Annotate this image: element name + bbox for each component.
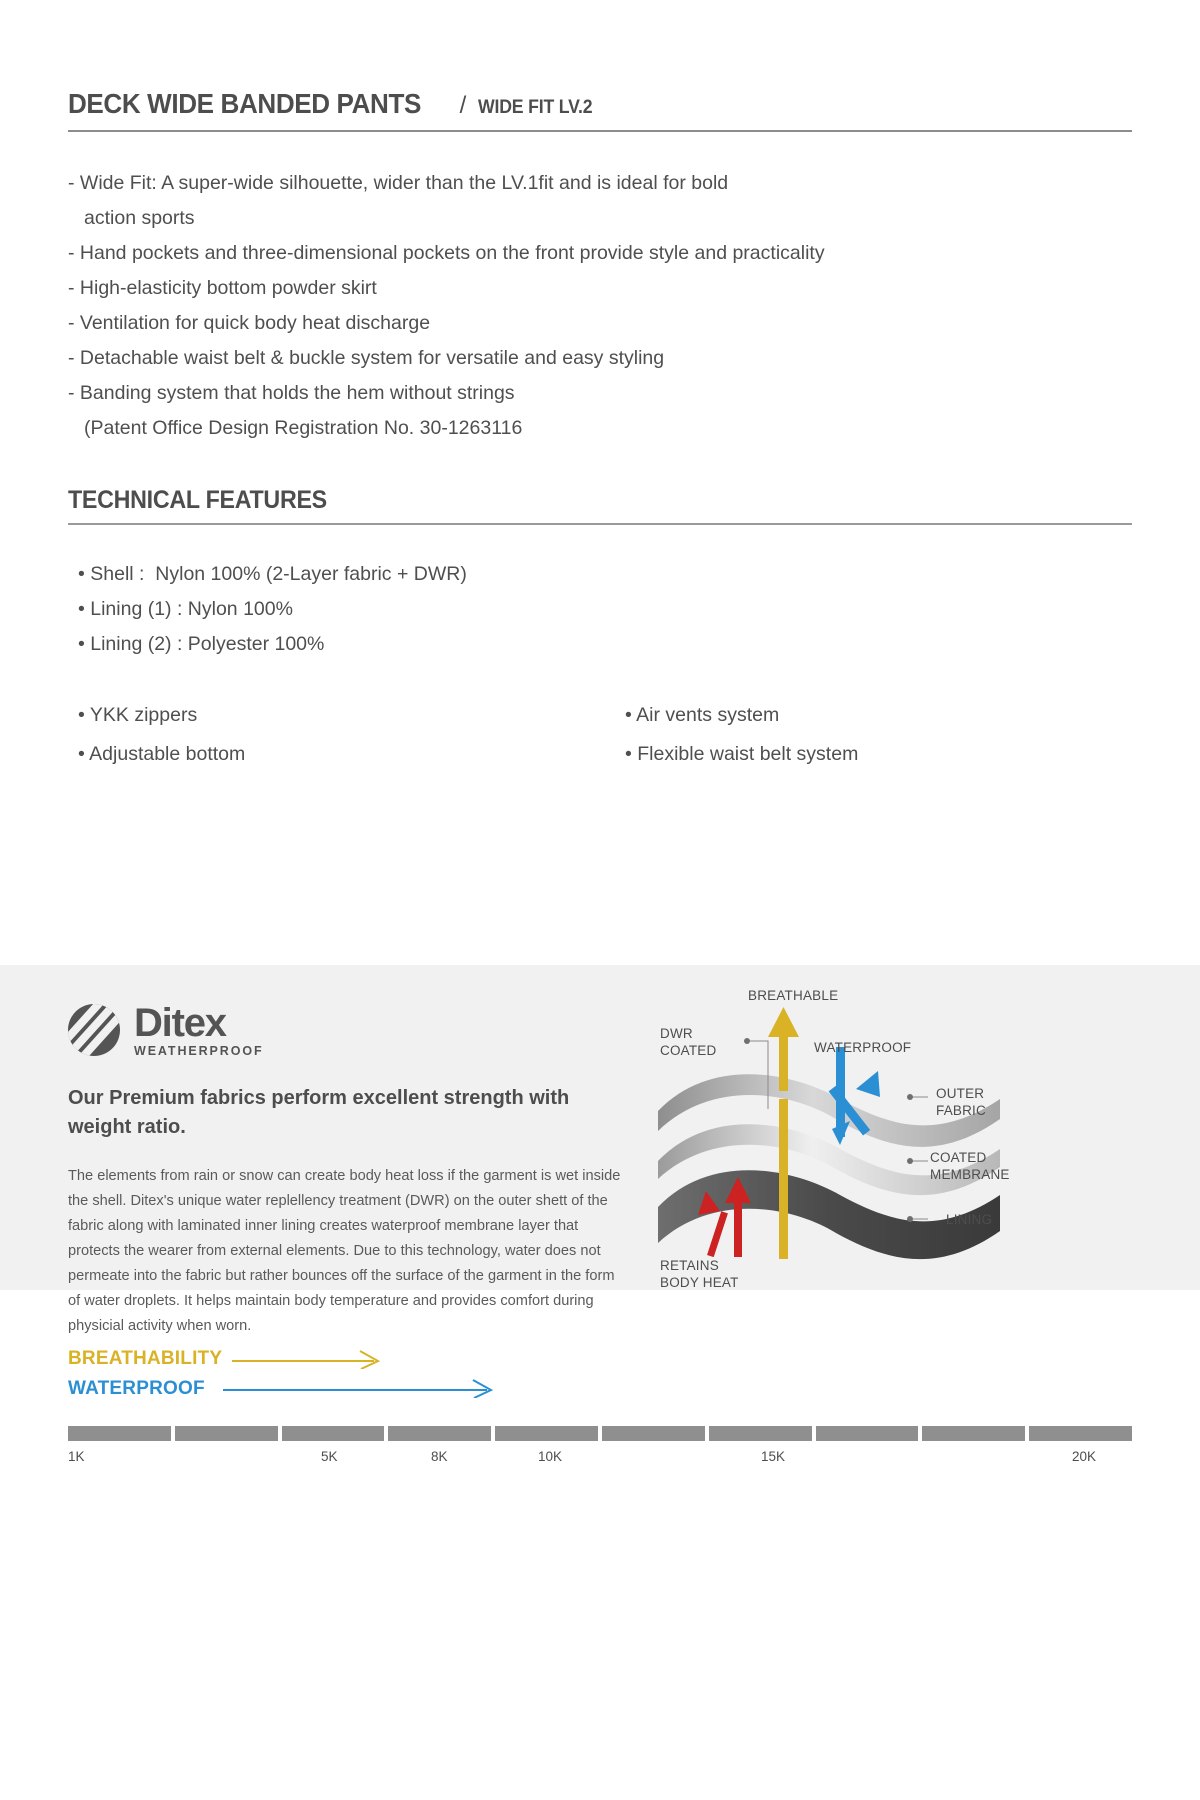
performance-scale-section: BREATHABILITY WATERPROOF 1K 5K 8K 10K 15… (0, 1290, 1200, 1471)
material-spec-list: • Shell : Nylon 100% (2-Layer fabric + D… (68, 557, 1132, 662)
product-title: DECK WIDE BANDED PANTS (68, 88, 421, 120)
patent-registration: (Patent Office Design Registration No. 3… (68, 411, 1132, 446)
scale-bar-segment (282, 1426, 385, 1441)
diagram-label-lining: LINING (946, 1211, 992, 1228)
spec-item: • Lining (2) : Polyester 100% (78, 627, 1132, 662)
extra-feature-item: • YKK zippers (78, 696, 585, 735)
diagram-label-dwr-coated: DWR COATED (660, 1025, 716, 1059)
diagram-label-waterproof: WATERPROOF (814, 1039, 911, 1056)
breathability-row: BREATHABILITY (68, 1348, 1132, 1370)
diagram-label-breathable: BREATHABLE (748, 987, 838, 1004)
waterproof-arrow-icon (219, 1378, 509, 1398)
scale-bar-segment (175, 1426, 278, 1441)
diagram-label-retains-body-heat: RETAINS BODY HEAT (660, 1257, 739, 1291)
extra-feature-columns: • YKK zippers • Air vents system • Adjus… (68, 696, 1132, 774)
page-title: DECK WIDE BANDED PANTS / WIDE FIT LV.2 (68, 0, 1132, 120)
scale-tick: 15K (761, 1449, 785, 1464)
feature-item: action sports (68, 201, 1132, 236)
technical-divider (68, 523, 1132, 525)
feature-item: - Wide Fit: A super-wide silhouette, wid… (68, 166, 1132, 201)
extra-feature-item: • Adjustable bottom (78, 735, 585, 774)
scale-bar-segment (68, 1426, 171, 1441)
scale-bar-segment (816, 1426, 919, 1441)
waterproof-row: WATERPROOF (68, 1376, 1132, 1400)
feature-item: - Hand pockets and three-dimensional poc… (68, 236, 1132, 271)
feature-item: - Banding system that holds the hem with… (68, 376, 1132, 411)
feature-item: - Detachable waist belt & buckle system … (68, 341, 1132, 376)
ditex-logo-wordmark: Ditex (134, 1003, 264, 1043)
technical-features-heading: TECHNICAL FEATURES (68, 486, 1058, 515)
breathability-arrow-icon (228, 1349, 388, 1369)
product-subtitle: WIDE FIT LV.2 (478, 97, 592, 119)
scale-tick-row: 1K 5K 8K 10K 15K 20K (68, 1449, 1132, 1471)
extra-feature-item: • Flexible waist belt system (625, 735, 1132, 774)
feature-item: - High-elasticity bottom powder skirt (68, 271, 1132, 306)
scale-bar-segment (602, 1426, 705, 1441)
scale-tick: 1K (68, 1449, 85, 1464)
scale-tick: 10K (538, 1449, 562, 1464)
scale-tick: 5K (321, 1449, 338, 1464)
scale-bar-segment (388, 1426, 491, 1441)
scale-bar-segment (495, 1426, 598, 1441)
diagram-label-coated-membrane: COATED MEMBRANE (930, 1149, 1010, 1183)
title-divider (68, 130, 1132, 132)
scale-bar-segment (709, 1426, 812, 1441)
scale-tick: 20K (1072, 1449, 1096, 1464)
breathability-label: BREATHABILITY (68, 1348, 222, 1370)
extra-feature-item: • Air vents system (625, 696, 1132, 735)
scale-bar-segment (922, 1426, 1025, 1441)
ditex-logo-tagline: WEATHERPROOF (134, 1045, 264, 1058)
scale-tick: 8K (431, 1449, 448, 1464)
ditex-headline: Our Premium fabrics perform excellent st… (68, 1084, 628, 1142)
title-separator: / (460, 92, 467, 120)
scale-bar-segment (1029, 1426, 1132, 1441)
spec-item: • Shell : Nylon 100% (2-Layer fabric + D… (78, 557, 1132, 592)
scale-bar-track (68, 1426, 1132, 1441)
waterproof-label: WATERPROOF (68, 1378, 205, 1400)
spec-item: • Lining (1) : Nylon 100% (78, 592, 1132, 627)
ditex-panel: Ditex WEATHERPROOF Our Premium fabrics p… (0, 965, 1200, 1290)
product-info-section: DECK WIDE BANDED PANTS / WIDE FIT LV.2 -… (0, 0, 1200, 774)
feature-list: - Wide Fit: A super-wide silhouette, wid… (68, 166, 1132, 446)
ditex-circle-stripes-icon (68, 1004, 120, 1056)
feature-item: - Ventilation for quick body heat discha… (68, 306, 1132, 341)
fabric-layer-diagram: BREATHABLE DWR COATED WATERPROOF OUTER F… (640, 979, 1140, 1289)
diagram-label-outer-fabric: OUTER FABRIC (936, 1085, 986, 1119)
